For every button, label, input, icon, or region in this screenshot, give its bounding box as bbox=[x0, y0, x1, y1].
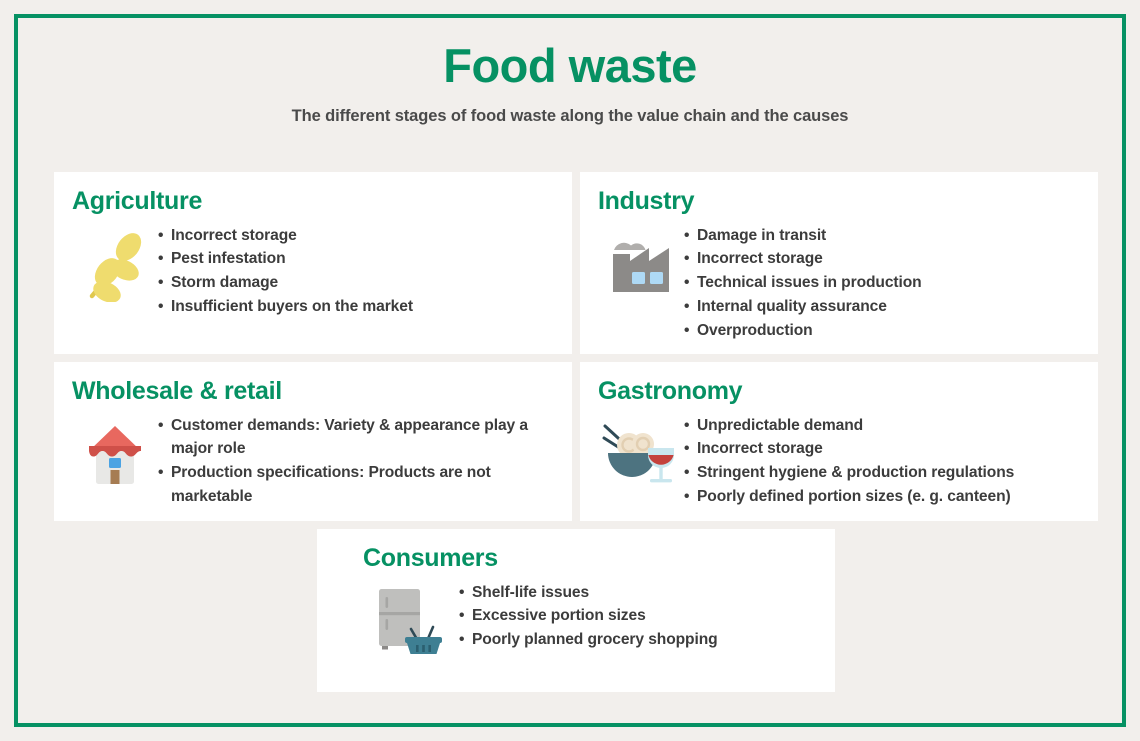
bullet-text: Storm damage bbox=[171, 274, 278, 291]
list-item: •Incorrect storage bbox=[158, 224, 413, 248]
bullet-list-agriculture: •Incorrect storage •Pest infestation •St… bbox=[158, 222, 413, 319]
list-item: •Production specifications: Products are… bbox=[158, 461, 554, 509]
bullet-text: Stringent hygiene & production regulatio… bbox=[697, 464, 1014, 481]
list-item: •Technical issues in production bbox=[684, 271, 922, 295]
card-wholesale-retail[interactable]: Wholesale & retail •C bbox=[54, 362, 572, 521]
card-title-agriculture: Agriculture bbox=[72, 188, 554, 216]
card-title-wholesale-retail: Wholesale & retail bbox=[72, 378, 554, 406]
bullet-dot-icon: • bbox=[459, 581, 464, 605]
bullet-dot-icon: • bbox=[158, 247, 163, 271]
header: Food waste The different stages of food … bbox=[18, 18, 1122, 126]
bullet-dot-icon: • bbox=[158, 414, 163, 438]
list-item: •Insufficient buyers on the market bbox=[158, 295, 413, 319]
card-body-agriculture: •Incorrect storage •Pest infestation •St… bbox=[72, 222, 554, 319]
bullet-text: Production specifications: Products are … bbox=[171, 464, 491, 505]
bullet-dot-icon: • bbox=[684, 485, 689, 509]
infographic-root: Food waste The different stages of food … bbox=[0, 0, 1140, 741]
card-body-gastronomy: •Unpredictable demand •Incorrect storage… bbox=[598, 412, 1080, 509]
list-item: •Customer demands: Variety & appearance … bbox=[158, 414, 554, 462]
card-row-3: Consumers bbox=[54, 529, 1098, 692]
list-item: •Incorrect storage bbox=[684, 247, 922, 271]
bullet-dot-icon: • bbox=[459, 628, 464, 652]
bullet-text: Incorrect storage bbox=[171, 227, 297, 244]
list-item: •Damage in transit bbox=[684, 224, 922, 248]
card-gastronomy[interactable]: Gastronomy bbox=[580, 362, 1098, 521]
card-consumers[interactable]: Consumers bbox=[317, 529, 835, 692]
bullet-dot-icon: • bbox=[459, 604, 464, 628]
card-industry[interactable]: Industry •Damage in transit bbox=[580, 172, 1098, 354]
card-agriculture[interactable]: Agriculture •Incorrec bbox=[54, 172, 572, 354]
bullet-text: Damage in transit bbox=[697, 227, 826, 244]
wheat-icon bbox=[72, 222, 158, 302]
bullet-dot-icon: • bbox=[684, 414, 689, 438]
card-body-industry: •Damage in transit •Incorrect storage •T… bbox=[598, 222, 1080, 343]
shop-icon bbox=[72, 412, 158, 486]
bullet-text: Overproduction bbox=[697, 322, 813, 339]
bullet-dot-icon: • bbox=[158, 295, 163, 319]
bullet-list-consumers: •Shelf-life issues •Excessive portion si… bbox=[459, 579, 718, 653]
bullet-text: Excessive portion sizes bbox=[472, 607, 646, 624]
bullet-text: Internal quality assurance bbox=[697, 298, 887, 315]
list-item: •Unpredictable demand bbox=[684, 414, 1014, 438]
card-title-industry: Industry bbox=[598, 188, 1080, 216]
list-item: •Shelf-life issues bbox=[459, 581, 718, 605]
page-subtitle: The different stages of food waste along… bbox=[18, 107, 1122, 126]
card-title-consumers: Consumers bbox=[363, 545, 817, 573]
card-title-gastronomy: Gastronomy bbox=[598, 378, 1080, 406]
card-body-consumers: •Shelf-life issues •Excessive portion si… bbox=[363, 579, 817, 655]
bullet-dot-icon: • bbox=[158, 271, 163, 295]
list-item: •Poorly planned grocery shopping bbox=[459, 628, 718, 652]
bullet-text: Pest infestation bbox=[171, 250, 286, 267]
list-item: •Overproduction bbox=[684, 319, 922, 343]
bullet-dot-icon: • bbox=[684, 461, 689, 485]
infographic-inner: Food waste The different stages of food … bbox=[18, 18, 1122, 723]
bullet-text: Unpredictable demand bbox=[697, 417, 863, 434]
bullet-text: Poorly defined portion sizes (e. g. cant… bbox=[697, 488, 1011, 505]
noodle-bowl-wine-icon bbox=[598, 412, 684, 488]
bullet-list-industry: •Damage in transit •Incorrect storage •T… bbox=[684, 222, 922, 343]
list-item: •Stringent hygiene & production regulati… bbox=[684, 461, 1014, 485]
bullet-text: Incorrect storage bbox=[697, 250, 823, 267]
bullet-dot-icon: • bbox=[684, 437, 689, 461]
bullet-text: Customer demands: Variety & appearance p… bbox=[171, 417, 528, 458]
fridge-basket-icon bbox=[363, 579, 459, 655]
bullet-text: Shelf-life issues bbox=[472, 584, 589, 601]
list-item: •Excessive portion sizes bbox=[459, 604, 718, 628]
bullet-dot-icon: • bbox=[684, 271, 689, 295]
bullet-text: Incorrect storage bbox=[697, 440, 823, 457]
bullet-dot-icon: • bbox=[158, 224, 163, 248]
bullet-text: Insufficient buyers on the market bbox=[171, 298, 413, 315]
card-row-2: Wholesale & retail •C bbox=[54, 362, 1098, 521]
list-item: •Internal quality assurance bbox=[684, 295, 922, 319]
factory-icon bbox=[598, 222, 684, 298]
list-item: •Storm damage bbox=[158, 271, 413, 295]
card-row-1: Agriculture •Incorrec bbox=[54, 172, 1098, 354]
bullet-dot-icon: • bbox=[684, 224, 689, 248]
bullet-dot-icon: • bbox=[684, 319, 689, 343]
bullet-text: Technical issues in production bbox=[697, 274, 922, 291]
bullet-dot-icon: • bbox=[158, 461, 163, 485]
list-item: •Poorly defined portion sizes (e. g. can… bbox=[684, 485, 1014, 509]
list-item: •Incorrect storage bbox=[684, 437, 1014, 461]
bullet-text: Poorly planned grocery shopping bbox=[472, 631, 718, 648]
bullet-dot-icon: • bbox=[684, 295, 689, 319]
page-title: Food waste bbox=[18, 40, 1122, 93]
card-body-wholesale-retail: •Customer demands: Variety & appearance … bbox=[72, 412, 554, 509]
bullet-list-wholesale-retail: •Customer demands: Variety & appearance … bbox=[158, 412, 554, 509]
card-grid: Agriculture •Incorrec bbox=[54, 172, 1098, 700]
list-item: •Pest infestation bbox=[158, 247, 413, 271]
bullet-list-gastronomy: •Unpredictable demand •Incorrect storage… bbox=[684, 412, 1014, 509]
bullet-dot-icon: • bbox=[684, 247, 689, 271]
